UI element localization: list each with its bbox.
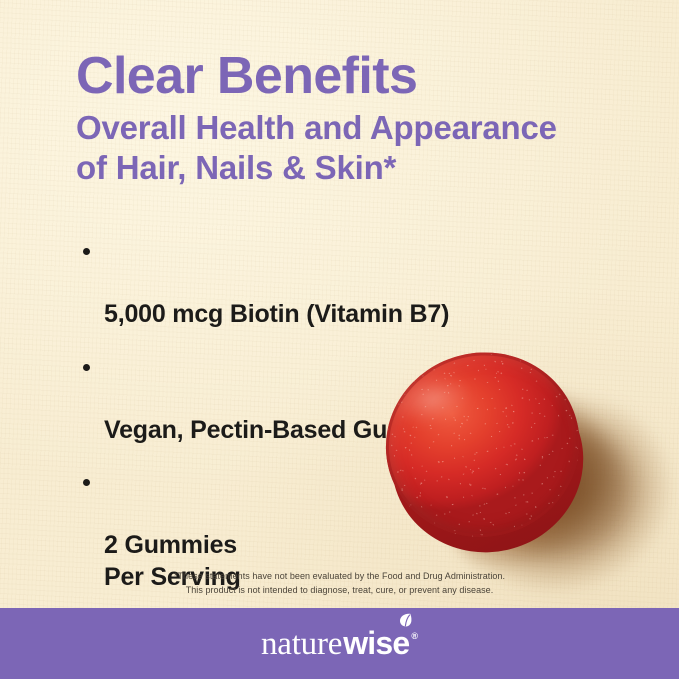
bullet-dot-icon xyxy=(83,479,90,486)
bullet-dot-icon xyxy=(83,364,90,371)
benefit-text: Vegan, Pectin-Based Gummy xyxy=(104,416,445,444)
heading-block: Clear Benefits Overall Health and Appear… xyxy=(76,50,636,189)
product-benefits-poster: Clear Benefits Overall Health and Appear… xyxy=(0,0,679,679)
logo-text-nature: nature xyxy=(261,626,342,663)
page-title: Clear Benefits xyxy=(76,50,636,102)
list-item: Vegan, Pectin-Based Gummy xyxy=(82,352,552,447)
disclaimer-line-2: This product is not intended to diagnose… xyxy=(0,584,679,598)
logo-text-wise: wise xyxy=(343,625,409,662)
registered-trademark: ® xyxy=(411,631,418,641)
page-subtitle-line-1: Overall Health and Appearance xyxy=(76,109,557,146)
leaf-icon xyxy=(399,613,412,628)
page-subtitle-line-2: of Hair, Nails & Skin* xyxy=(76,149,396,186)
page-subtitle: Overall Health and Appearance of Hair, N… xyxy=(76,108,636,189)
bullet-dot-icon xyxy=(83,248,90,255)
disclaimer-line-1: *These statements have not been evaluate… xyxy=(0,570,679,584)
fda-disclaimer: *These statements have not been evaluate… xyxy=(0,570,679,598)
benefit-text: 5,000 mcg Biotin (Vitamin B7) xyxy=(104,300,449,328)
brand-footer-bar: nature wise ® xyxy=(0,608,679,679)
naturewise-logo: nature wise ® xyxy=(261,625,418,663)
list-item: 5,000 mcg Biotin (Vitamin B7) xyxy=(82,236,552,331)
